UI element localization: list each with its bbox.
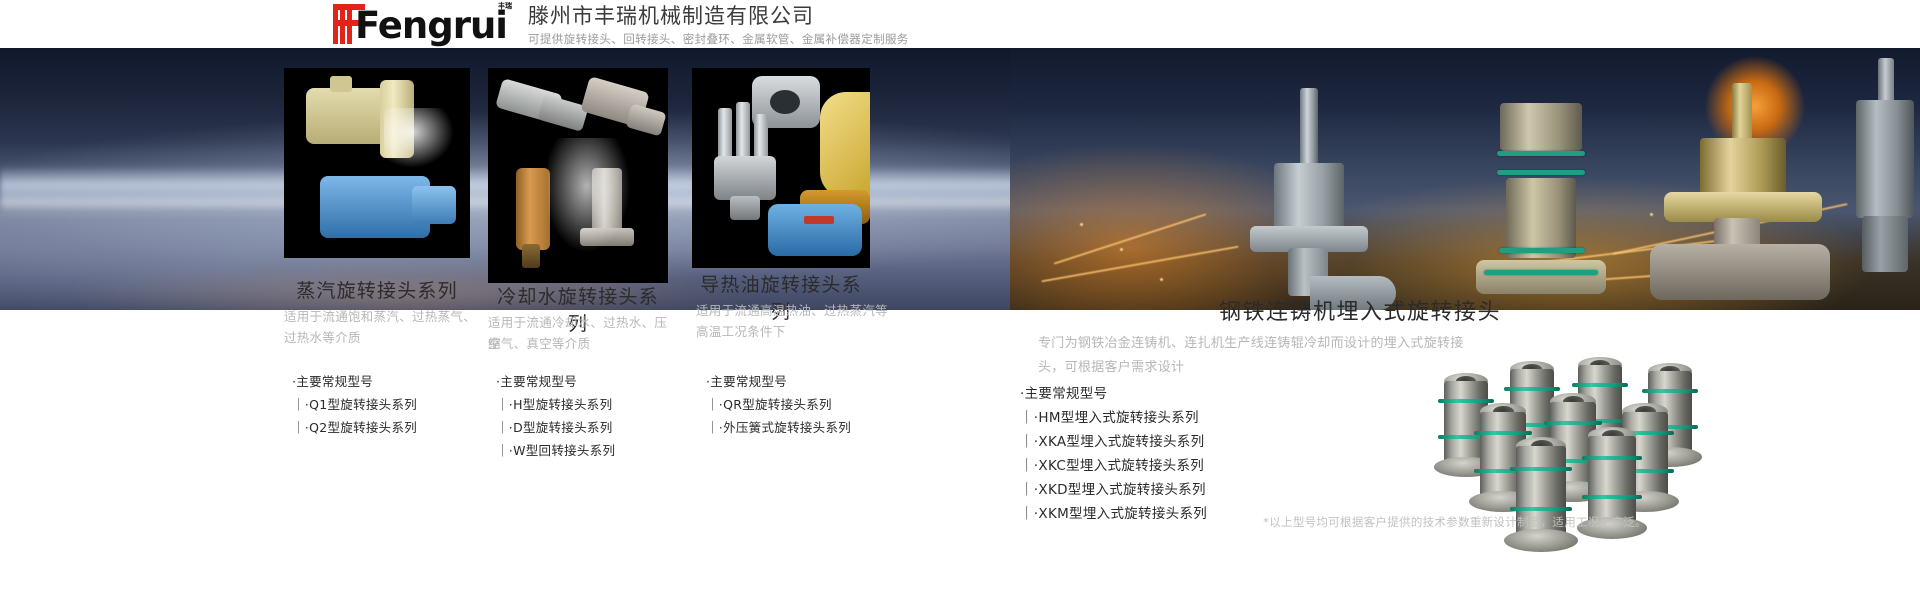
- logo-mark: Fengrui 丰瑞: [333, 2, 519, 44]
- company-logo[interactable]: Fengrui 丰瑞: [333, 2, 519, 44]
- thermal-oil-rotary-joint-photo: [692, 68, 870, 268]
- steam-rotary-joint-photo: [284, 68, 470, 258]
- featured-product-panel: 钢铁连铸机埋入式旋转接头 专门为钢铁冶金连铸机、连扎机生产线连铸辊冷却而设计的埋…: [1010, 310, 1920, 600]
- card-title: 蒸汽旋转接头系列: [284, 276, 470, 303]
- logo-wordmark: Fengrui: [355, 8, 507, 44]
- model-item[interactable]: ｜·QR型旋转接头系列: [706, 393, 851, 416]
- featured-note: *以上型号均可根据客户提供的技术参数重新设计制造，适用工况更广泛。: [1010, 514, 1900, 530]
- model-item[interactable]: ｜·XKA型埋入式旋转接头系列: [1020, 430, 1207, 454]
- site-header: Fengrui 丰瑞 滕州市丰瑞机械制造有限公司 可提供旋转接头、回转接头、密封…: [0, 0, 1920, 48]
- industrial-sparks-photo: [1010, 48, 1920, 310]
- card-desc-line1: 适用于流通饱和蒸汽、过热蒸气、: [284, 306, 476, 327]
- featured-title: 钢铁连铸机埋入式旋转接头: [1010, 294, 1710, 326]
- model-item[interactable]: ｜·Q1型旋转接头系列: [292, 393, 417, 416]
- model-item[interactable]: ｜·XKC型埋入式旋转接头系列: [1020, 454, 1207, 478]
- embedded-rotary-joints-group-photo: [1430, 355, 1760, 535]
- featured-models: ·主要常规型号 ｜·HM型埋入式旋转接头系列 ｜·XKA型埋入式旋转接头系列 ｜…: [1020, 382, 1207, 526]
- model-item[interactable]: ｜·HM型埋入式旋转接头系列: [1020, 406, 1207, 430]
- models-heading: ·主要常规型号: [1020, 382, 1207, 406]
- header-text-block: 滕州市丰瑞机械制造有限公司 可提供旋转接头、回转接头、密封叠环、金属软管、金属补…: [528, 3, 909, 47]
- card-desc-line2: 空气、真空等介质: [488, 333, 678, 354]
- company-tagline: 可提供旋转接头、回转接头、密封叠环、金属软管、金属补偿器定制服务: [528, 31, 909, 47]
- model-item[interactable]: ｜·H型旋转接头系列: [496, 393, 615, 416]
- model-item[interactable]: ｜·外压簧式旋转接头系列: [706, 416, 851, 439]
- banner-page: Fengrui 丰瑞 滕州市丰瑞机械制造有限公司 可提供旋转接头、回转接头、密封…: [0, 0, 1920, 600]
- model-item[interactable]: ｜·Q2型旋转接头系列: [292, 416, 417, 439]
- models-heading: ·主要常规型号: [496, 370, 615, 393]
- cooling-water-rotary-joint-photo: [488, 68, 668, 283]
- card-desc-line2: 高温工况条件下: [696, 321, 888, 342]
- model-item[interactable]: ｜·D型旋转接头系列: [496, 416, 615, 439]
- product-cards: 蒸汽旋转接头系列 适用于流通饱和蒸汽、过热蒸气、 过热水等介质 ·主要常规型号 …: [0, 48, 1010, 600]
- card-desc-line1: 适用于流通高温热油、过热蒸汽等: [696, 300, 888, 321]
- hero-banner: 蒸汽旋转接头系列 适用于流通饱和蒸汽、过热蒸气、 过热水等介质 ·主要常规型号 …: [0, 48, 1920, 600]
- card-desc-line2: 过热水等介质: [284, 327, 476, 348]
- model-item[interactable]: ｜·XKD型埋入式旋转接头系列: [1020, 478, 1207, 502]
- company-name: 滕州市丰瑞机械制造有限公司: [528, 3, 909, 29]
- model-item[interactable]: ｜·W型回转接头系列: [496, 439, 615, 462]
- featured-desc-line1: 专门为钢铁冶金连铸机、连扎机生产线连铸辊冷却而设计的埋入式旋转接: [1038, 332, 1678, 356]
- logo-cn-mark: 丰瑞: [498, 3, 512, 10]
- models-heading: ·主要常规型号: [292, 370, 417, 393]
- models-heading: ·主要常规型号: [706, 370, 851, 393]
